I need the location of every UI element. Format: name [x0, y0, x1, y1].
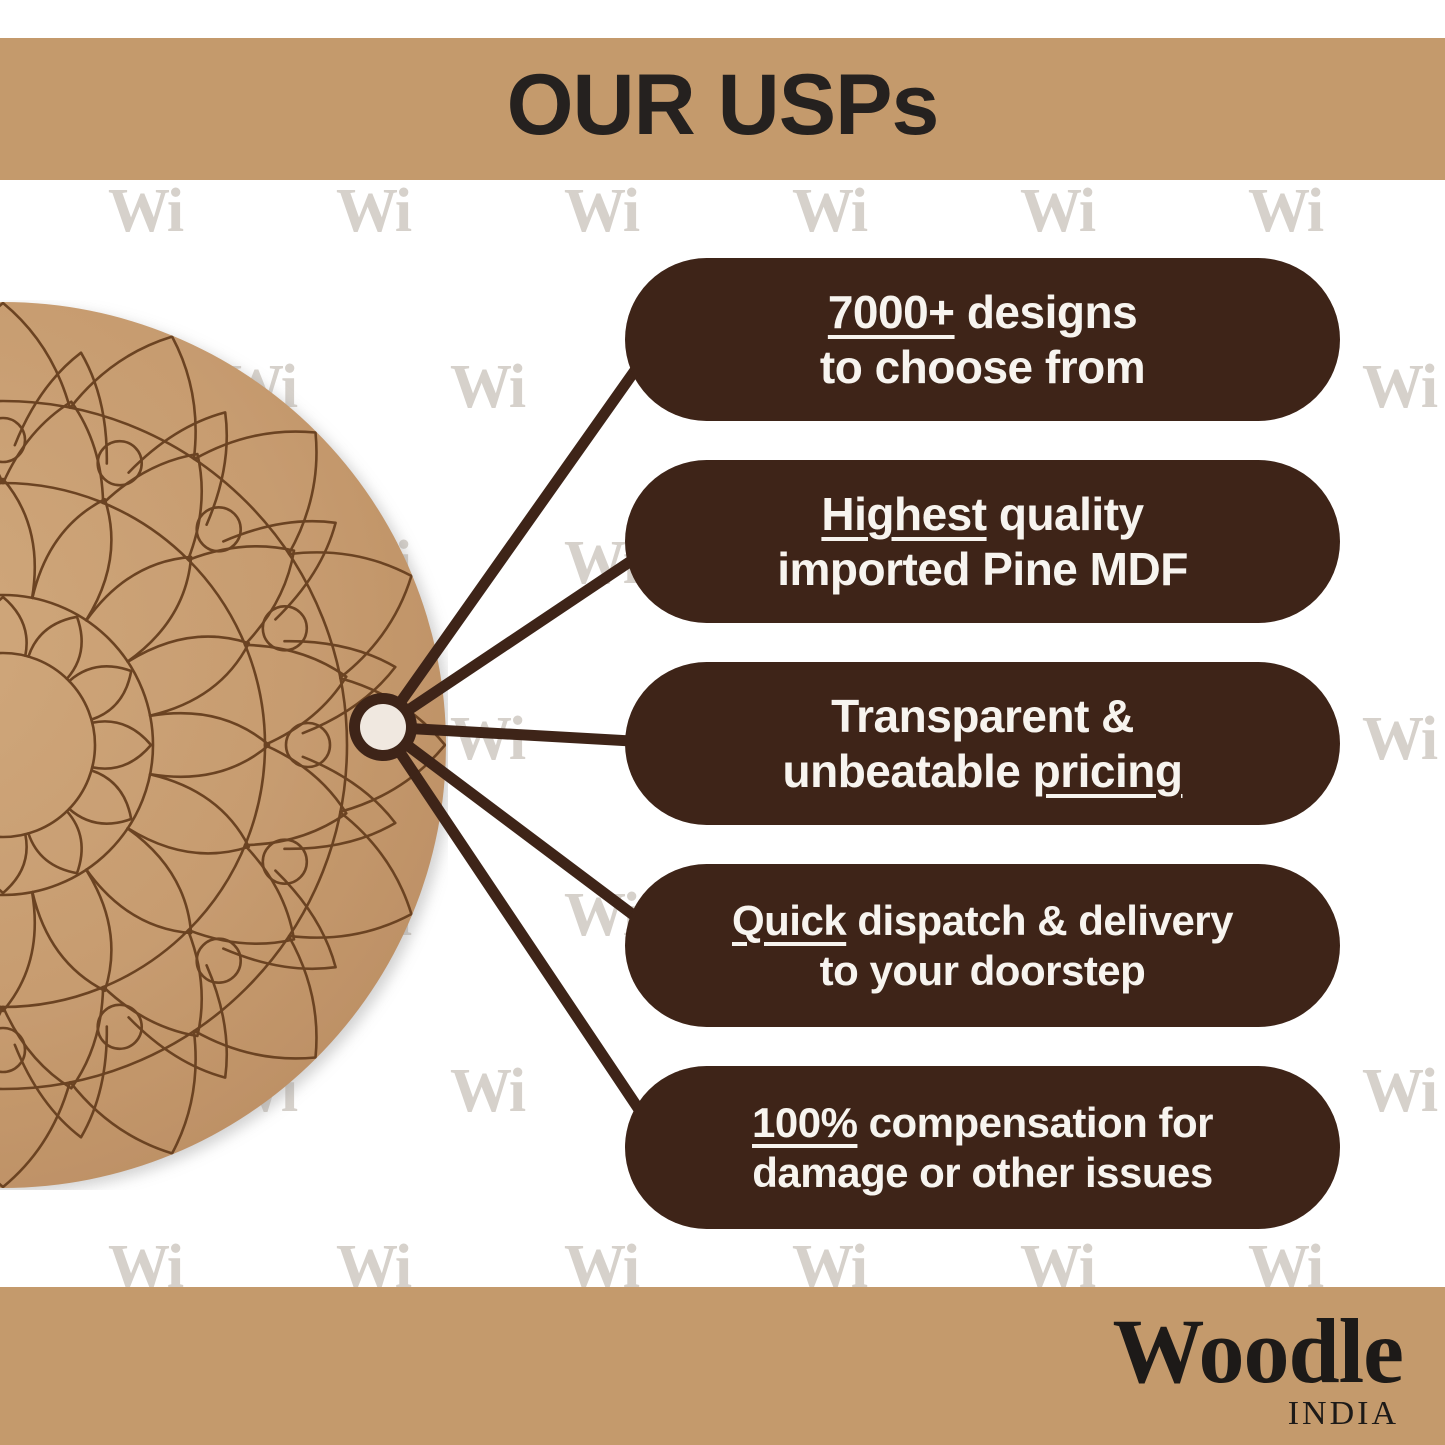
usp-line-1-rest: compensation for [857, 1099, 1213, 1146]
usp-highlight: 100% [752, 1099, 857, 1146]
usp-line-1-rest: designs [955, 286, 1138, 338]
usp-line-1: Quick dispatch & delivery [732, 896, 1233, 946]
watermark-wi: Wi [450, 1060, 524, 1122]
usp-pill-material-quality[interactable]: Highest quality imported Pine MDF [625, 460, 1340, 623]
usp-highlight: Quick [732, 897, 846, 944]
brand-logo-subtitle: INDIA [1113, 1397, 1399, 1431]
brand-logo-word: Woodle [1113, 1308, 1403, 1395]
watermark-wi: Wi [1020, 180, 1094, 242]
usp-line-2: to your doorstep [820, 946, 1146, 996]
usp-highlight: Highest [821, 488, 986, 540]
mandala-artwork [0, 300, 448, 1190]
usp-pill-designs-count[interactable]: 7000+ designs to choose from [625, 258, 1340, 421]
usp-line-1: Highest quality [821, 487, 1143, 541]
usp-highlight: pricing [1033, 745, 1183, 797]
watermark-wi: Wi [450, 708, 524, 770]
usp-line-2: damage or other issues [752, 1148, 1213, 1198]
usp-line-1: 7000+ designs [828, 285, 1137, 339]
infographic-page: WiWiWiWiWiWiWiWiWiWiWiWiWiWiWiWiWiWiWiWi… [0, 0, 1445, 1445]
usp-line-1-rest: quality [987, 488, 1144, 540]
usp-line-2-pre: unbeatable [783, 745, 1033, 797]
brand-logo: Woodle INDIA [1113, 1308, 1403, 1431]
usp-pill-dispatch-delivery[interactable]: Quick dispatch & delivery to your doorst… [625, 864, 1340, 1027]
watermark-wi: Wi [1362, 1060, 1436, 1122]
usp-pill-compensation[interactable]: 100% compensation for damage or other is… [625, 1066, 1340, 1229]
watermark-wi: Wi [792, 180, 866, 242]
usp-line-1: Transparent & [831, 689, 1134, 743]
usp-line-2: unbeatable pricing [783, 744, 1183, 798]
page-title: OUR USPs [0, 62, 1445, 148]
watermark-wi: Wi [1362, 356, 1436, 418]
wood-disc [0, 302, 446, 1188]
watermark-wi: Wi [564, 180, 638, 242]
usp-pill-pricing[interactable]: Transparent & unbeatable pricing [625, 662, 1340, 825]
usp-line-1: 100% compensation for [752, 1098, 1213, 1148]
watermark-wi: Wi [450, 356, 524, 418]
usp-line-1-rest: dispatch & delivery [846, 897, 1233, 944]
watermark-wi: Wi [1248, 180, 1322, 242]
usp-highlight: 7000+ [828, 286, 955, 338]
usp-line-2: to choose from [820, 340, 1145, 394]
watermark-wi: Wi [336, 180, 410, 242]
watermark-wi: Wi [1362, 708, 1436, 770]
watermark-wi: Wi [108, 180, 182, 242]
usp-line-2: imported Pine MDF [777, 542, 1188, 596]
mdf-mandala-board [0, 300, 448, 1190]
